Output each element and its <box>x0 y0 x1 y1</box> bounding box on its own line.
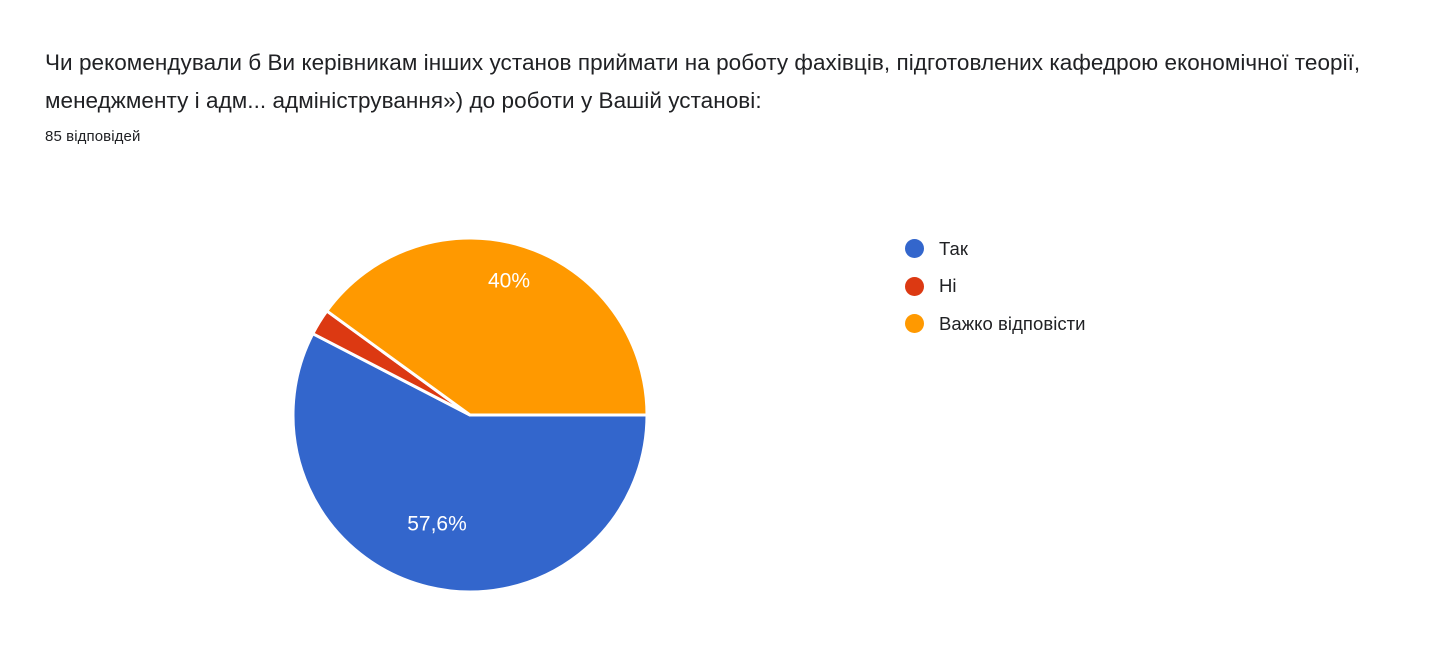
legend-dot-red-icon <box>905 277 924 296</box>
pie-chart-svg: 40% 57,6% <box>265 200 685 620</box>
pie-slices <box>293 238 647 592</box>
legend-item-vazhko-vidpovisty[interactable]: Важко відповісти <box>905 305 1086 343</box>
legend-dot-blue-icon <box>905 239 924 258</box>
legend-label-tak: Так <box>939 238 968 260</box>
legend-item-tak[interactable]: Так <box>905 230 1086 268</box>
response-count-label: 85 відповідей <box>45 126 1395 148</box>
question-header: Чи рекомендували б Ви керівникам інших у… <box>45 44 1395 148</box>
pie-label-tak: 57,6% <box>407 513 467 536</box>
page-title: Чи рекомендували б Ви керівникам інших у… <box>45 44 1395 120</box>
legend-label-ni: Ні <box>939 275 957 297</box>
legend-dot-orange-icon <box>905 314 924 333</box>
pie-chart-container: 40% 57,6% Так Ні Важко відповісти <box>0 190 1429 640</box>
pie-label-vazhko-vidpovisty: 40% <box>488 270 530 293</box>
pie-chart: 40% 57,6% <box>265 200 685 620</box>
legend-item-ni[interactable]: Ні <box>905 268 1086 306</box>
legend-label-vazhko-vidpovisty: Важко відповісти <box>939 313 1086 335</box>
chart-legend: Так Ні Важко відповісти <box>905 230 1086 343</box>
